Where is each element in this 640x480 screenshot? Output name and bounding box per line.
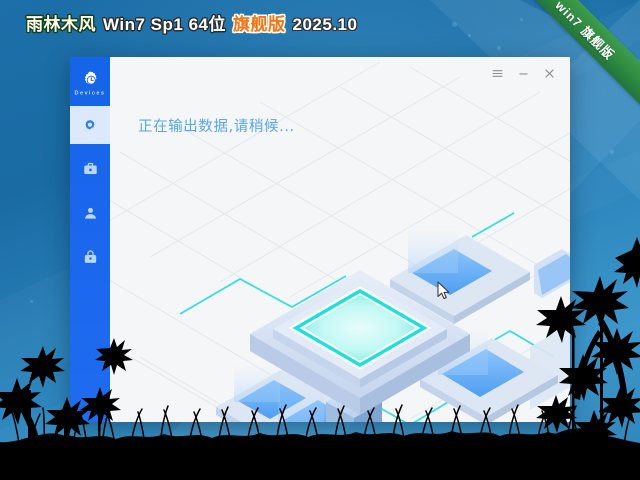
sidebar-item-settings[interactable] — [70, 106, 110, 144]
sidebar-item-user[interactable] — [70, 194, 110, 232]
minimize-icon — [517, 67, 530, 80]
menu-button[interactable] — [484, 62, 510, 84]
mouse-cursor — [437, 281, 451, 301]
gear-clock-logo-icon — [80, 70, 100, 90]
sidebar-item-security[interactable] — [70, 238, 110, 276]
briefcase-icon — [82, 161, 99, 178]
sidebar: Devices — [70, 57, 110, 422]
brand-highlight: 旗舰版 — [233, 16, 286, 33]
brand-edition: Win7 Sp1 64位 — [103, 16, 226, 33]
hamburger-icon — [491, 67, 504, 80]
brand-name: 雨林木风 — [26, 16, 96, 33]
close-button[interactable] — [536, 62, 562, 84]
status-message: 正在输出数据,请稍候... — [138, 115, 295, 136]
user-icon — [82, 205, 99, 222]
isometric-illustration — [110, 57, 570, 422]
app-window: Devices — [70, 57, 570, 422]
window-controls — [484, 62, 562, 84]
minimize-button[interactable] — [510, 62, 536, 84]
brand-version: 2025.10 — [293, 16, 358, 33]
app-logo-caption: Devices — [75, 89, 106, 95]
close-icon — [543, 67, 556, 80]
window-content: 正在输出数据,请稍候... — [110, 57, 570, 422]
gear-icon — [82, 117, 98, 133]
app-logo: Devices — [70, 64, 110, 100]
sidebar-item-toolbox[interactable] — [70, 150, 110, 188]
lock-bag-icon — [82, 249, 99, 266]
